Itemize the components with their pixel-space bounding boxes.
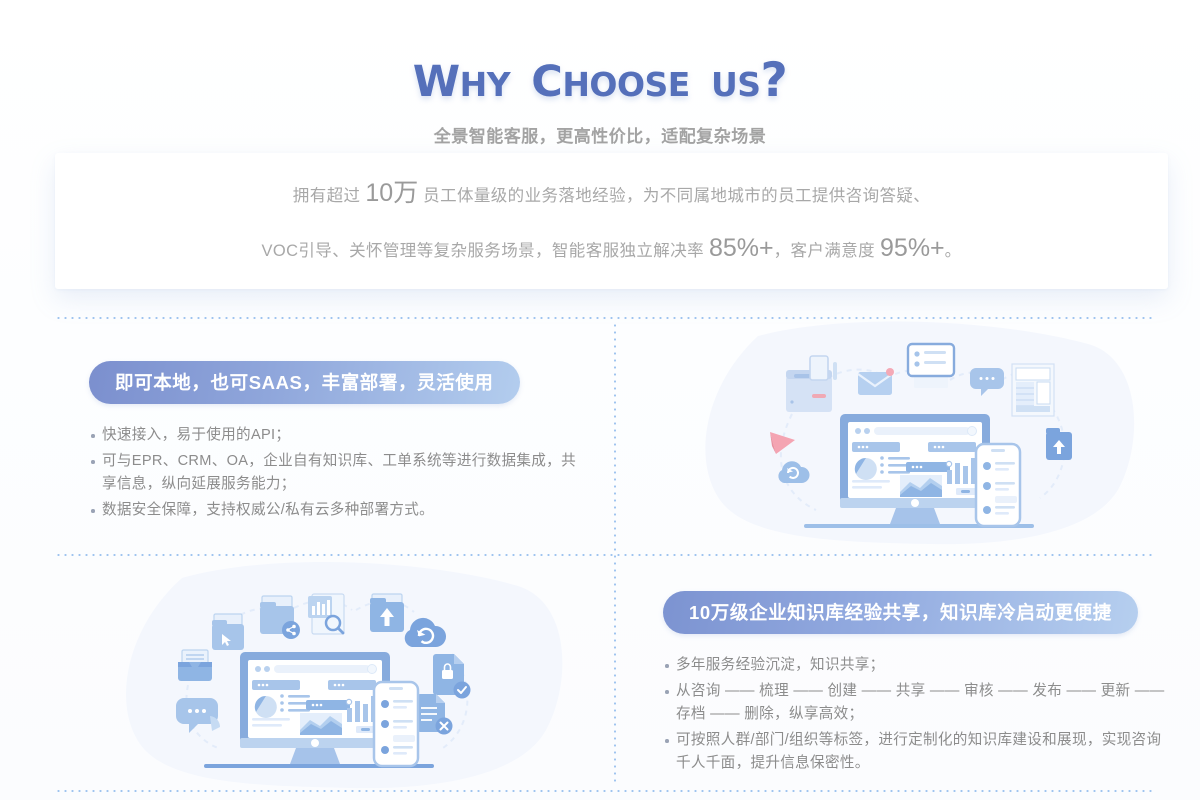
smartphone: [976, 444, 1020, 526]
feature-bullets-knowledge-base: 多年服务经验沉淀，知识共享； 从咨询 —— 梳理 —— 创建 —— 共享 —— …: [663, 654, 1168, 775]
intro-line2-part3: 。: [945, 242, 962, 260]
document-table-icon: [1012, 364, 1054, 416]
upload-folder-icon: [1046, 428, 1072, 460]
inbox-documents-icon: [178, 650, 212, 681]
intro-line2-part2: ，客户满意度: [774, 242, 880, 260]
feature-block-knowledge-base: 10万级企业知识库经验共享，知识库冷启动更便捷 多年服务经验沉淀，知识共享； 从…: [663, 591, 1168, 775]
list-item: 可按照人群/部门/组织等标签，进行定制化的知识库建设和展现，实现咨询千人千面，提…: [663, 729, 1168, 775]
page-root: Why Choose Us? 全景智能客服，更高性价比，适配复杂场景 拥有超过 …: [0, 0, 1200, 800]
intro-line2-part1: VOC引导、关怀管理等复杂服务场景，智能客服独立解决率: [261, 242, 709, 260]
intro-stat-satisfaction: 95%+: [880, 234, 945, 262]
intro-card: 拥有超过 10万 员工体量级的业务落地经验，为不同属地城市的员工提供咨询答疑、 …: [55, 153, 1168, 289]
title-letter-w: W: [413, 38, 460, 111]
monitor-card-icon: [908, 344, 954, 388]
platform-integration-illustration: [700, 318, 1144, 550]
title-rest-hy: hy: [460, 53, 511, 108]
intro-stat-resolution: 85%+: [709, 234, 774, 262]
feature-heading-saas: 即可本地，也可SAAS，丰富部署，灵活使用: [89, 361, 520, 404]
folder-cursor-icon: [212, 614, 244, 650]
chart-search-icon: [308, 594, 344, 634]
intro-line-2: VOC引导、关怀管理等复杂服务场景，智能客服独立解决率 85%+，客户满意度 9…: [261, 236, 961, 261]
title-word-us: Us?: [711, 53, 787, 108]
email-envelope-icon: [858, 368, 894, 395]
feature-block-saas: 即可本地，也可SAAS，丰富部署，灵活使用 快速接入，易于使用的API； 可与E…: [89, 361, 589, 522]
intro-line1-part1: 拥有超过: [293, 187, 366, 205]
list-item: 从咨询 —— 梳理 —— 创建 —— 共享 —— 审核 —— 发布 —— 更新 …: [663, 680, 1168, 726]
page-header: Why Choose Us? 全景智能客服，更高性价比，适配复杂场景: [0, 44, 1200, 147]
list-item: 多年服务经验沉淀，知识共享；: [663, 654, 1168, 677]
page-subtitle: 全景智能客服，更高性价比，适配复杂场景: [0, 122, 1200, 147]
feature-bullets-saas: 快速接入，易于使用的API； 可与EPR、CRM、OA，企业自有知识库、工单系统…: [89, 424, 589, 522]
intro-stat-employees: 10万: [365, 179, 418, 207]
intro-line1-part2: 员工体量级的业务落地经验，为不同属地城市的员工提供咨询答疑、: [418, 187, 930, 205]
list-item: 快速接入，易于使用的API；: [89, 424, 589, 447]
feature-heading-knowledge-base: 10万级企业知识库经验共享，知识库冷启动更便捷: [663, 591, 1138, 634]
divider-middle: [55, 554, 1155, 556]
list-item: 可与EPR、CRM、OA，企业自有知识库、工单系统等进行数据集成，共享信息，纵向…: [89, 450, 589, 496]
intro-line-1: 拥有超过 10万 员工体量级的业务落地经验，为不同属地城市的员工提供咨询答疑、: [293, 181, 930, 206]
knowledge-base-illustration: [122, 558, 572, 796]
list-item: 数据安全保障，支持权威公/私有云多种部署方式。: [89, 499, 589, 522]
title-rest-hoose: hoose: [562, 53, 690, 108]
upload-folder-icon: [370, 594, 404, 632]
page-title: Why Choose Us?: [0, 44, 1200, 106]
title-letter-c: C: [531, 38, 562, 111]
divider-vertical: [614, 322, 616, 782]
smartphone: [374, 682, 418, 766]
